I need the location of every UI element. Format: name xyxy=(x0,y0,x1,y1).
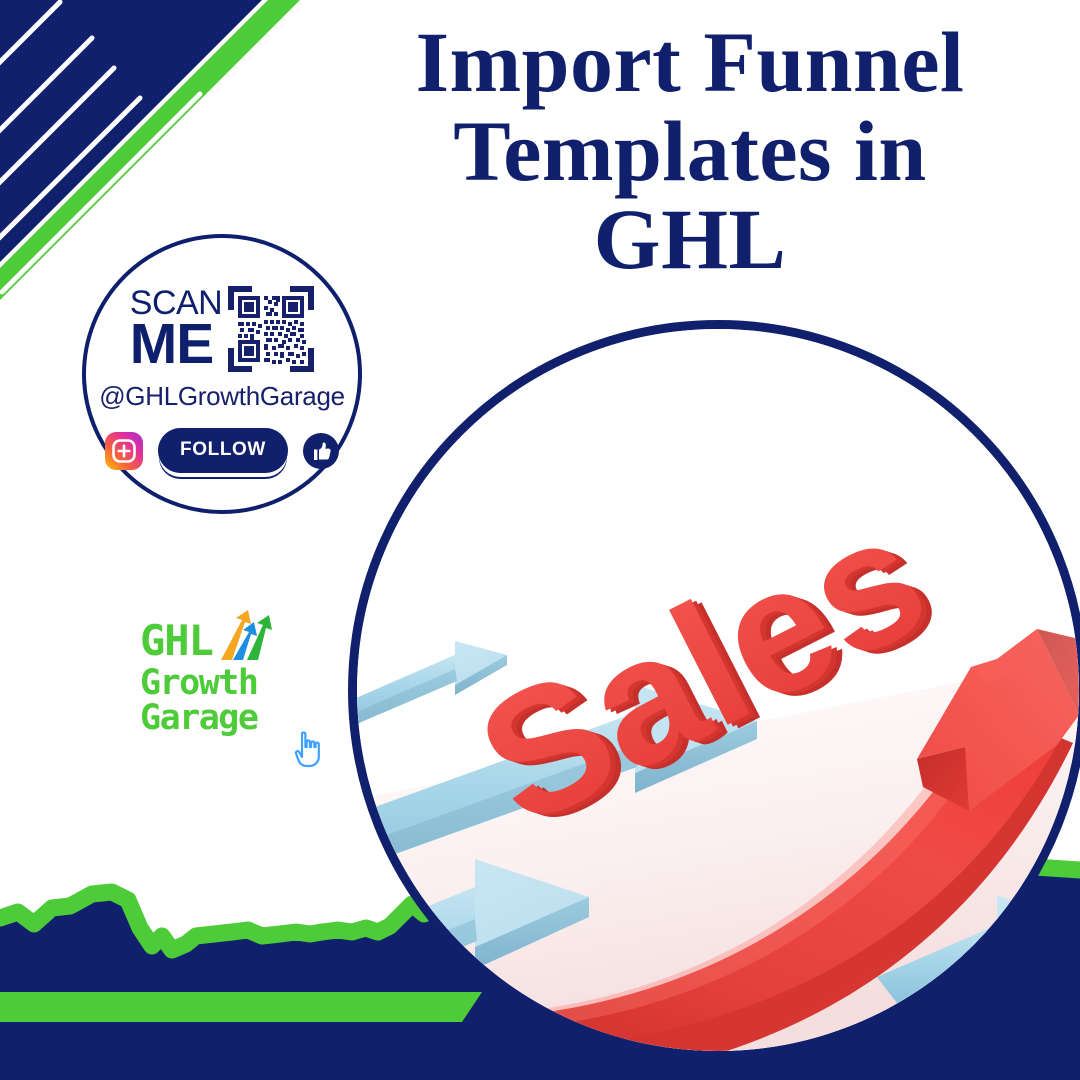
follow-button[interactable]: FOLLOW xyxy=(158,428,288,473)
title-line-1: Import Funnel xyxy=(320,18,1060,107)
sales-arrows-illustration: Sales Sales Sales xyxy=(357,329,1079,1051)
social-handle: @GHLGrowthGarage xyxy=(99,381,345,412)
arrow-orange xyxy=(221,610,251,660)
hero-image-circle: Sales Sales Sales xyxy=(348,320,1080,1060)
navy-triangle xyxy=(0,0,262,262)
brand-logo: GHL Growth Garage xyxy=(140,608,370,736)
logo-top-row: GHL xyxy=(140,608,370,662)
logo-growth-garage-text: Growth Garage xyxy=(140,666,370,736)
title-line-3: GHL xyxy=(320,195,1060,284)
page-title: Import Funnel Templates in GHL xyxy=(320,18,1060,284)
instagram-icon[interactable] xyxy=(105,432,143,470)
qr-code-icon[interactable] xyxy=(228,286,314,372)
follow-row: FOLLOW xyxy=(105,428,339,473)
title-line-2: Templates in xyxy=(320,107,1060,196)
growth-arrows-icon xyxy=(215,608,277,662)
logo-ghl-text: GHL xyxy=(140,620,213,662)
scan-me-row: SCAN ME xyxy=(130,286,314,372)
hand-cursor-icon xyxy=(291,730,325,770)
scan-me-badge[interactable]: SCAN ME xyxy=(82,234,362,514)
me-label: ME xyxy=(130,320,214,369)
arrow-green xyxy=(247,615,272,660)
scan-me-text: SCAN ME xyxy=(130,289,222,369)
poster-canvas: Import Funnel Templates in GHL SCAN ME xyxy=(0,0,1080,1080)
thumbs-up-icon[interactable] xyxy=(303,433,339,469)
